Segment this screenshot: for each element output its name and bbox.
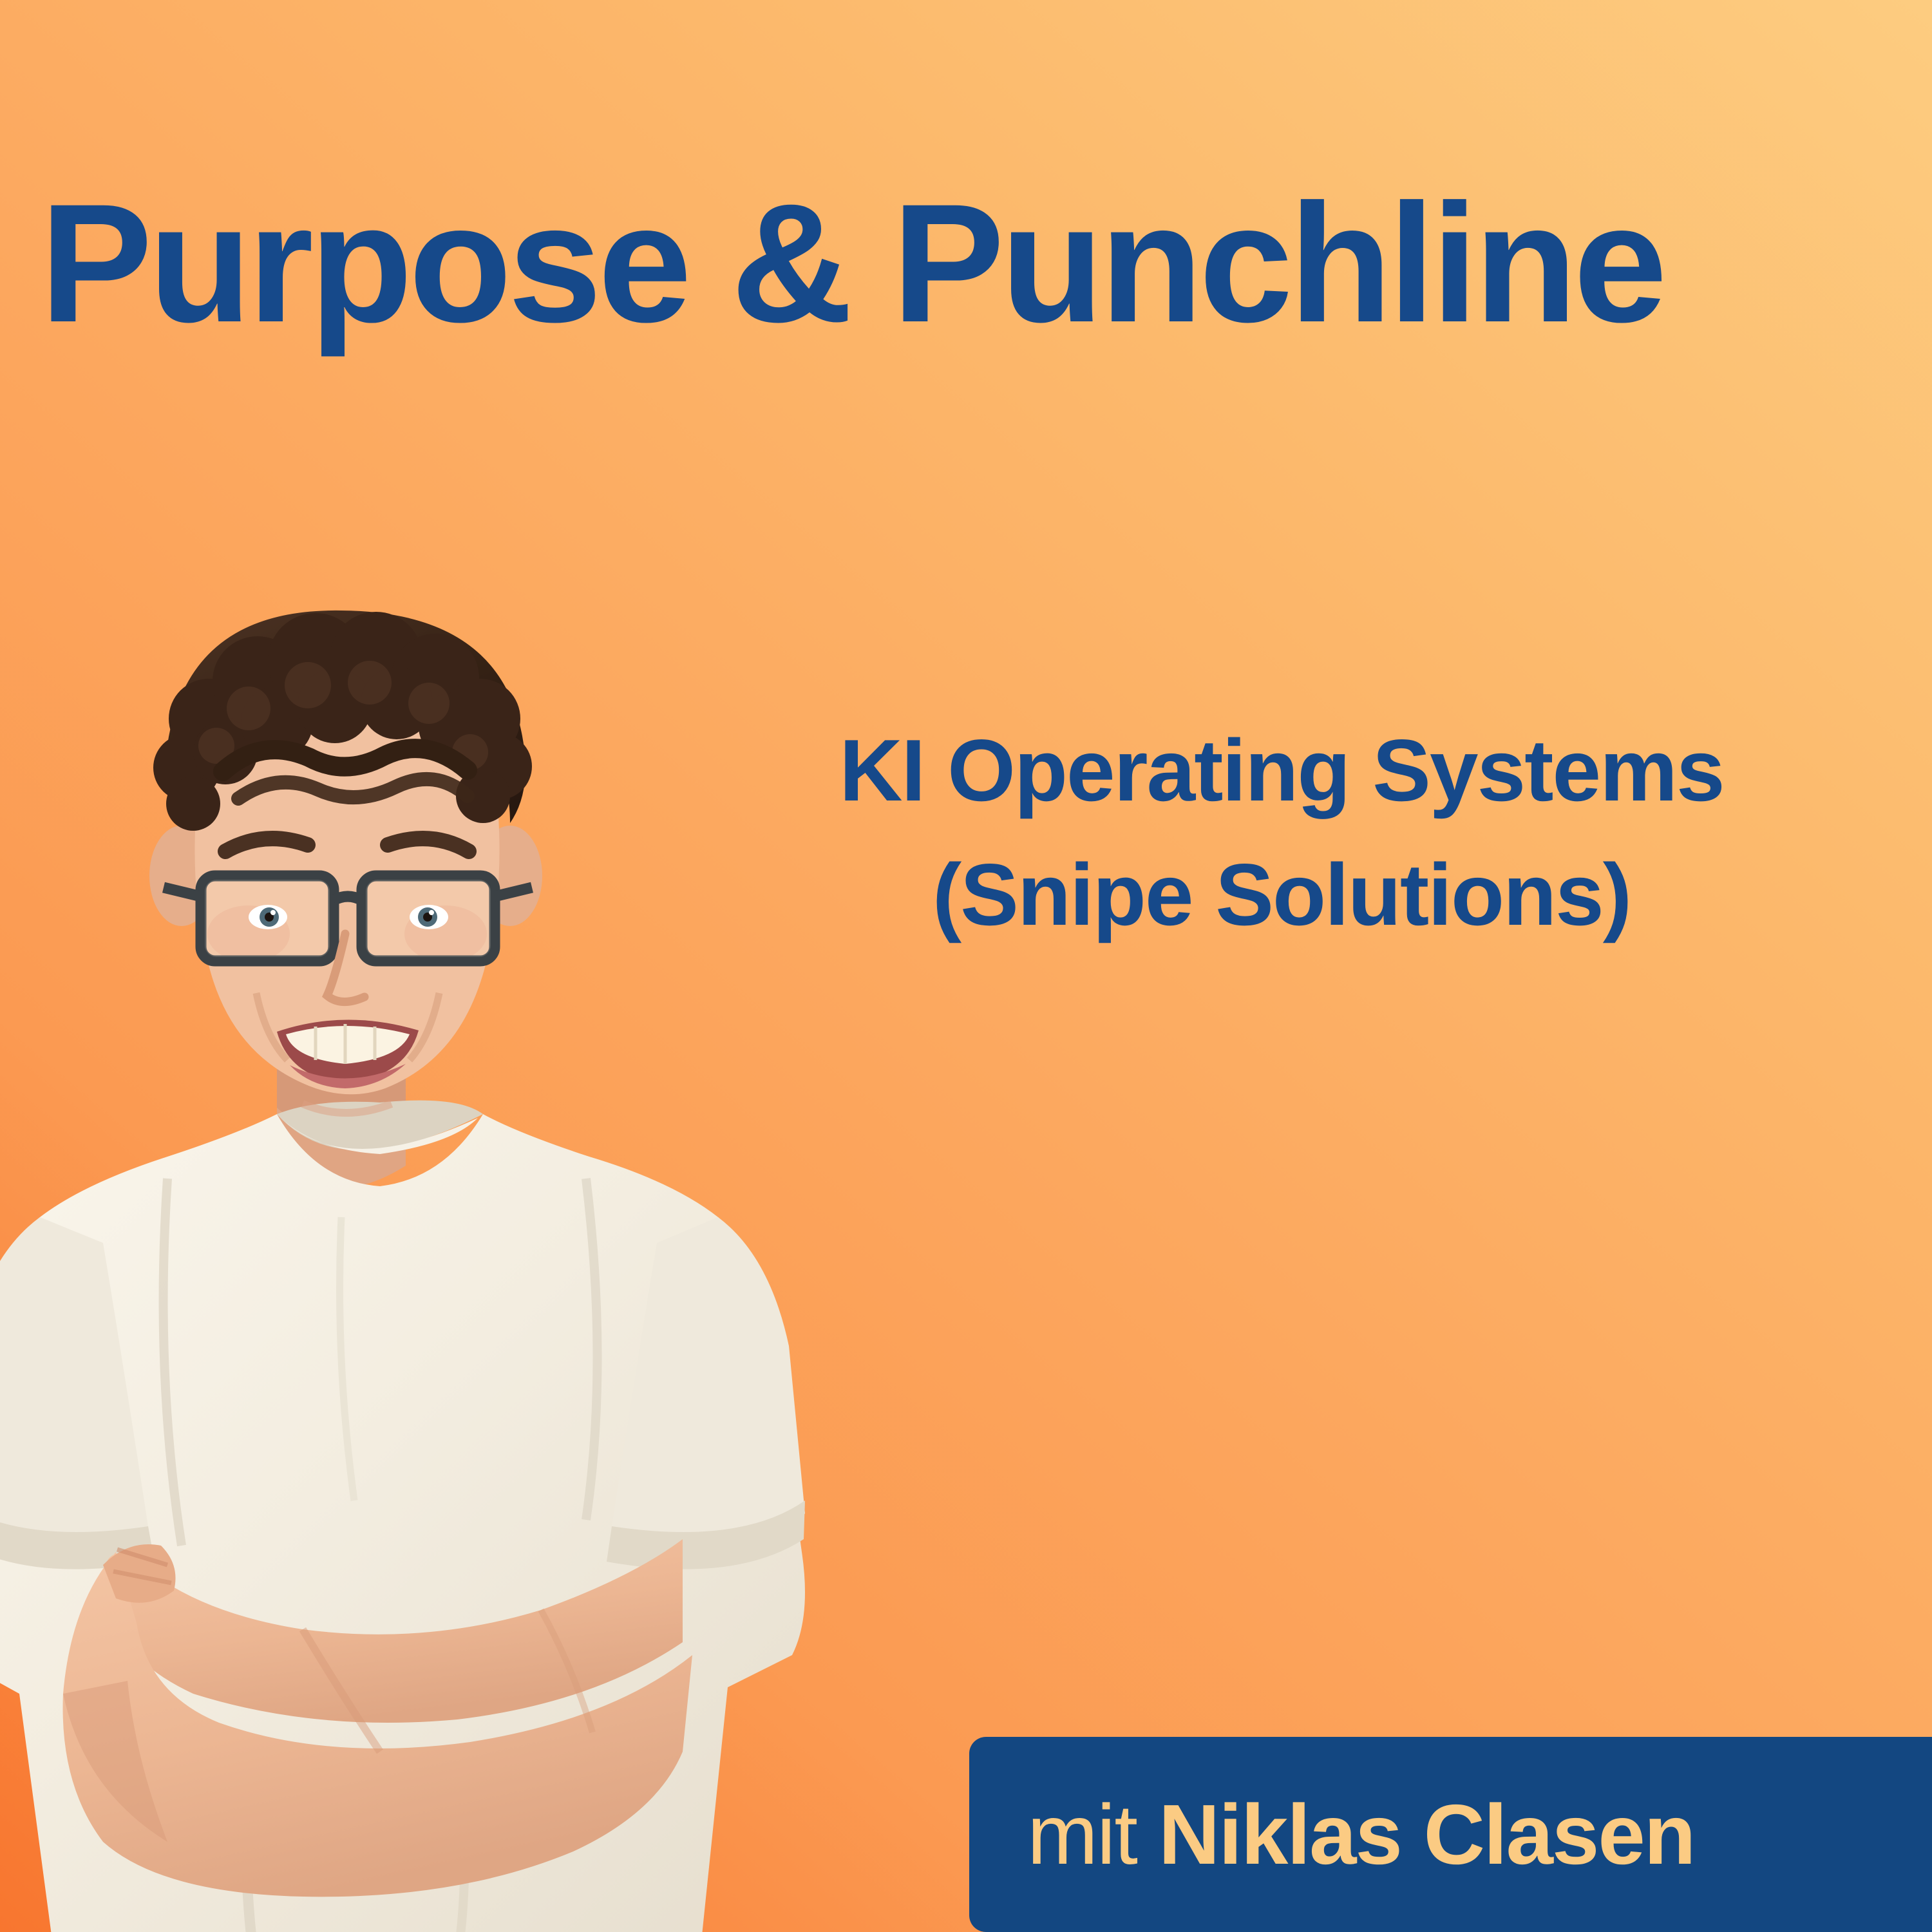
guest-name-label: Niklas Clasen [1159, 1786, 1694, 1883]
banner-prefix-label: mit [1027, 1786, 1137, 1883]
subtitle-line-2: (Snipe Solutions) [689, 833, 1874, 957]
subtitle-line-1: KI Operating Systems [689, 708, 1874, 833]
episode-subtitle: KI Operating Systems (Snipe Solutions) [689, 708, 1874, 957]
page-title: Purpose & Punchline [40, 179, 1908, 348]
guest-name-banner: mit Niklas Clasen [969, 1737, 1932, 1932]
